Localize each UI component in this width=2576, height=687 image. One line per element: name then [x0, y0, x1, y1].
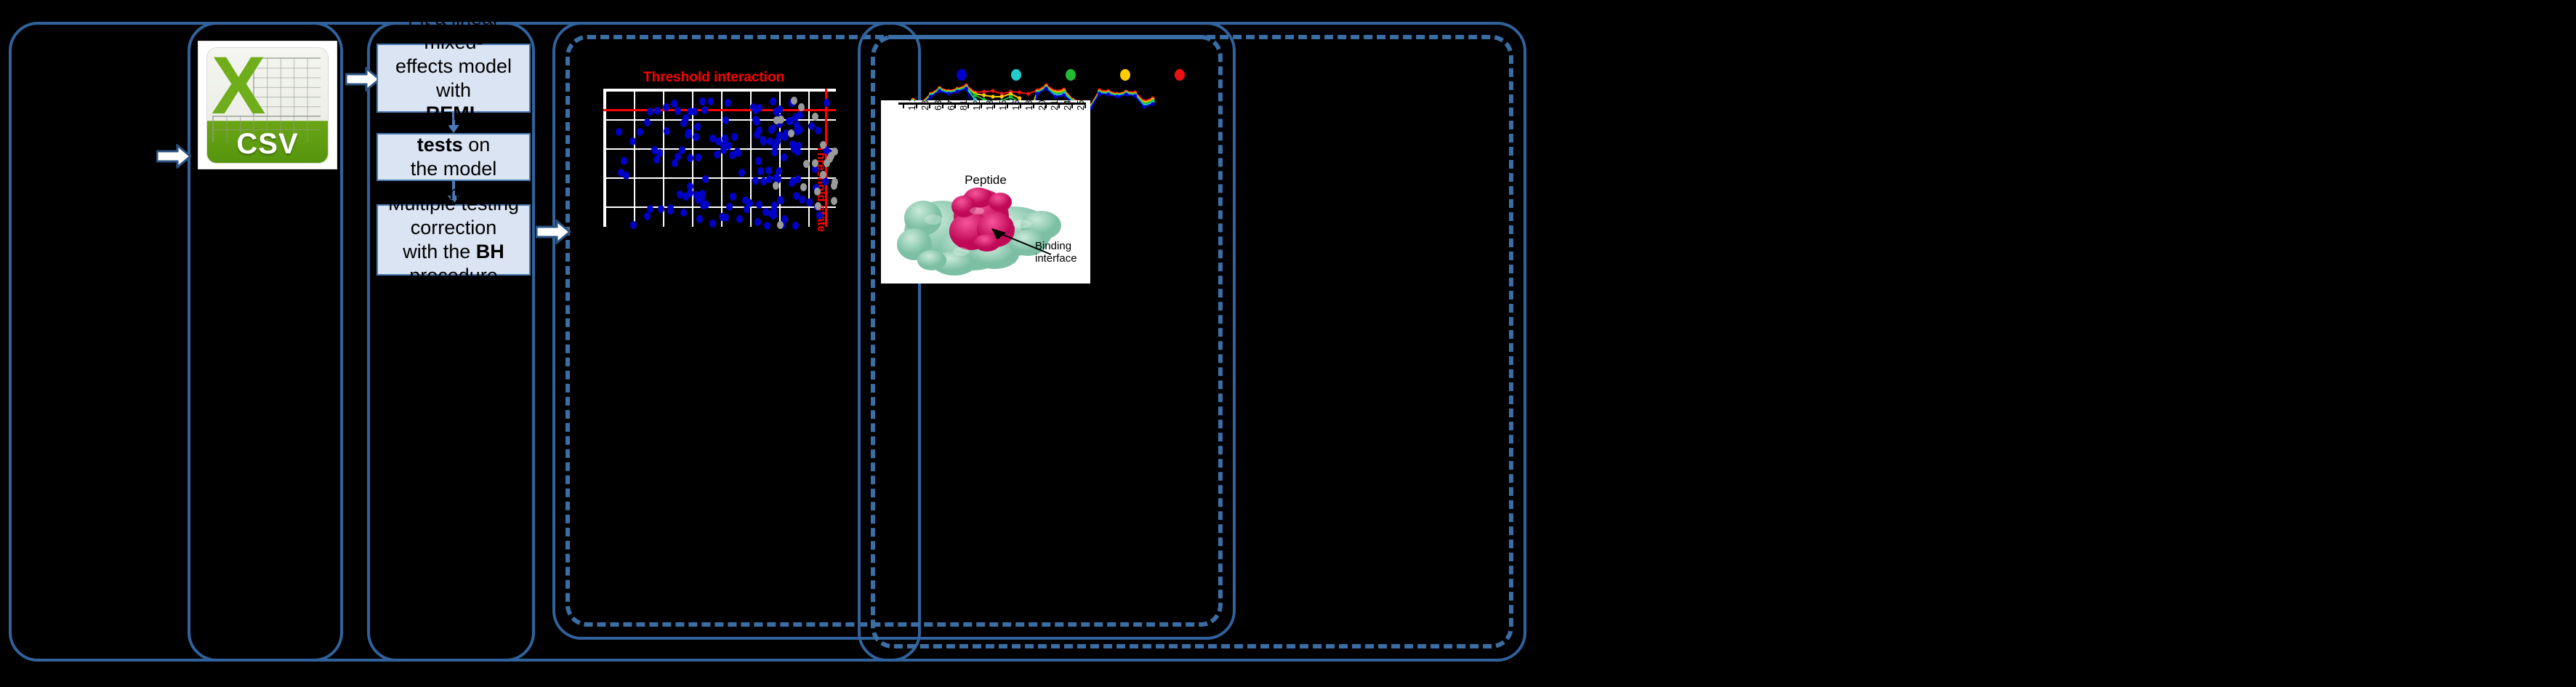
scatter-point	[798, 103, 805, 111]
scatter-point	[656, 149, 663, 157]
scatter-point	[719, 213, 725, 221]
scatter-point	[814, 188, 821, 196]
scatter-point	[623, 172, 629, 180]
scatter-point	[703, 201, 709, 209]
y-axis-tick-0: 0.0	[881, 100, 897, 103]
scatter-point	[803, 160, 810, 168]
scatter-point	[752, 106, 759, 114]
scatter-point	[773, 182, 779, 190]
peptide-label: 277-284	[1088, 100, 1090, 111]
chart-point	[1018, 96, 1021, 100]
scatter-point	[752, 116, 759, 124]
scatter-point	[687, 154, 693, 162]
chart-point	[1098, 92, 1101, 95]
scatter-point	[765, 166, 772, 174]
binding-interface-line1: Binding	[1035, 240, 1089, 252]
scatter-point	[699, 97, 706, 105]
peptide-label: 218-237	[1049, 100, 1060, 111]
scatter-point	[637, 128, 643, 136]
scatter-point	[832, 178, 838, 186]
scatter-point	[725, 99, 731, 107]
peptide-label: 200-214	[1037, 100, 1047, 111]
chart-point	[956, 89, 959, 93]
scatter-point	[702, 175, 709, 183]
scatter-point	[800, 183, 807, 191]
legend-dot-2	[1066, 69, 1076, 81]
scatter-point	[630, 221, 637, 229]
chart-point	[1106, 92, 1110, 96]
arrow-input-to-csv	[156, 144, 191, 169]
chart-legend	[900, 69, 1162, 81]
scatter-point	[647, 205, 653, 213]
scatter-point	[680, 209, 687, 217]
chart-point	[973, 93, 977, 97]
step3-pre: with the	[403, 241, 476, 262]
peptide-label: 63-73	[933, 100, 943, 111]
scatter-point	[644, 212, 651, 220]
scatter-point	[820, 141, 826, 149]
scatter-point	[762, 208, 769, 216]
scatter-point	[778, 116, 784, 124]
scatter-plot: Threshold interaction Threshold state	[603, 89, 836, 227]
peptide-label: 67-75	[946, 100, 957, 111]
x-axis-tick	[903, 103, 904, 108]
scatter-point	[738, 169, 745, 177]
chart-point	[929, 95, 933, 98]
step3-line2: correction	[411, 217, 497, 238]
peptide-label: 167-180	[1010, 100, 1021, 111]
scatter-point	[647, 108, 653, 116]
scatter-point	[794, 121, 800, 129]
step1-line1: Fit a linear mixed-	[408, 7, 499, 53]
legend-dot-3	[1120, 69, 1130, 81]
step2-pre: Apply	[403, 110, 458, 132]
scatter-point	[831, 197, 837, 205]
legend-dot-0	[957, 69, 967, 81]
step2-post: on	[463, 134, 491, 156]
arrow-csv-to-stats	[345, 67, 380, 92]
scatter-point	[687, 189, 693, 197]
peptide-label: 1-15	[906, 100, 917, 111]
step3-post: procedure	[409, 265, 498, 286]
threshold-interaction-label: Threshold interaction	[643, 70, 784, 86]
scatter-point	[757, 167, 764, 175]
scatter-point	[695, 196, 701, 204]
scatter-point	[789, 140, 796, 148]
legend-dot-4	[1175, 69, 1185, 81]
chart-point	[938, 89, 941, 92]
scatter-point	[793, 192, 800, 200]
scatter-point	[735, 149, 741, 157]
scatter-point	[812, 159, 818, 167]
scatter-point	[772, 142, 778, 150]
scatter-point	[791, 97, 797, 105]
chart-point	[1062, 93, 1066, 97]
chart-point	[991, 89, 994, 92]
csv-label: CSV	[206, 128, 329, 161]
scatter-point	[820, 171, 826, 179]
chart-point	[1009, 95, 1013, 98]
binding-interface-line2: interface	[1035, 252, 1089, 265]
peptide-label: 28-44	[919, 100, 930, 111]
peptide-label: 135-144	[984, 100, 995, 111]
chart-point	[1142, 105, 1146, 108]
chart-point	[1116, 95, 1119, 98]
chart-point	[1133, 94, 1137, 97]
scatter-point	[808, 122, 815, 130]
step-box-wald: Apply Wald tests on the model parameters	[377, 133, 531, 181]
peptide-label: 158-166	[997, 100, 1008, 111]
chart-point	[982, 93, 986, 97]
chart-point	[1053, 95, 1057, 98]
scatter-point	[709, 134, 716, 142]
peptide-label: 258-266	[1075, 100, 1086, 111]
peptide-label: 241-257	[1062, 100, 1073, 111]
scatter-point	[789, 177, 796, 185]
scatter-point	[742, 196, 749, 204]
step3-bold: BH	[476, 241, 504, 262]
peptide-label: 184-199	[1023, 100, 1034, 111]
chart-point	[1000, 95, 1004, 98]
scatter-point	[691, 108, 698, 116]
scatter-point	[654, 107, 661, 115]
scatter-point	[795, 142, 802, 150]
csv-x-glyph: X	[212, 51, 260, 115]
scatter-point	[824, 99, 830, 107]
scatter-point	[816, 212, 823, 220]
scatter-point	[828, 152, 834, 160]
chart-point	[1124, 92, 1128, 96]
chart-point	[1151, 102, 1154, 105]
chart-point	[1045, 87, 1048, 90]
scatter-point	[683, 114, 689, 122]
peptide-label: 81-101	[958, 100, 969, 111]
scatter-point	[695, 153, 701, 161]
scatter-point	[778, 196, 784, 204]
peptide-label: 122-129	[971, 100, 982, 111]
step-box-reml: Fit a linear mixed- effects model with R…	[377, 44, 531, 113]
step1-line2: effects model with	[395, 55, 512, 101]
scatter-point	[770, 212, 777, 220]
scatter-point	[663, 103, 669, 111]
chart-point	[1036, 92, 1039, 95]
csv-file-icon: X CSV	[198, 41, 337, 169]
chart-point	[965, 87, 968, 90]
scatter-point	[770, 124, 776, 132]
scatter-point	[777, 221, 784, 229]
chart-point	[946, 92, 950, 95]
step3-line1: Multiple testing	[388, 193, 519, 214]
arrow-stats-to-scatter	[536, 220, 571, 244]
scatter-point	[685, 131, 691, 139]
scatter-point	[799, 196, 805, 204]
scatter-point	[679, 146, 685, 154]
chart-point	[1018, 90, 1021, 94]
legend-dot-1	[1011, 69, 1021, 81]
scatter-point	[723, 116, 729, 124]
chart-point	[982, 89, 986, 93]
chart-point	[1026, 92, 1030, 95]
scatter-point	[806, 198, 813, 206]
results-card: 0.0 1-1528-4463-7367-7581-101122-129135-…	[881, 100, 1090, 284]
step-box-bh: Multiple testing correction with the BH …	[377, 204, 531, 276]
chart-point	[991, 95, 994, 98]
binding-interface-annotation: Binding interface	[1035, 240, 1089, 265]
scatter-point	[730, 193, 736, 201]
scatter-point	[764, 222, 770, 230]
scatter-point	[616, 128, 622, 136]
